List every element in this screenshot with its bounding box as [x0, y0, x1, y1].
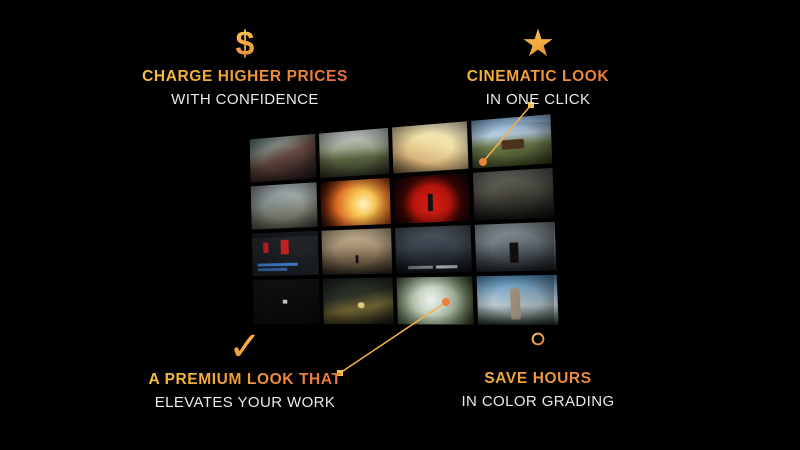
vignette-overlay: [392, 121, 468, 173]
feature-headline: CINEMATIC LOOK: [388, 68, 688, 86]
feature-charge-higher-prices: $ CHARGE HIGHER PRICES WITH CONFIDENCE: [95, 22, 395, 108]
crosshair-target-icon: [388, 324, 688, 368]
caption-text: [436, 265, 457, 269]
feature-subtitle: IN COLOR GRADING: [388, 393, 688, 410]
feature-premium-look: ✓ A PREMIUM LOOK THAT ELEVATES YOUR WORK: [95, 325, 395, 411]
caption-text: [408, 266, 433, 270]
vignette-overlay: [393, 173, 469, 224]
video-thumbnail[interactable]: [395, 225, 472, 274]
feature-subtitle: ELEVATES YOUR WORK: [95, 394, 395, 411]
video-thumbnail[interactable]: [474, 221, 556, 272]
video-thumbnail[interactable]: [393, 173, 469, 224]
video-thumbnail[interactable]: [322, 278, 394, 325]
dollar-sign-icon: $: [95, 22, 395, 66]
video-thumbnail[interactable]: [251, 182, 318, 229]
feature-headline: CHARGE HIGHER PRICES: [95, 68, 395, 86]
promo-slide: $ CHARGE HIGHER PRICES WITH CONFIDENCE ★…: [0, 0, 800, 450]
person-silhouette: [428, 194, 434, 211]
feature-cinematic-look: ★ CINEMATIC LOOK IN ONE CLICK: [388, 22, 688, 108]
vignette-overlay: [322, 278, 394, 325]
feature-subtitle: IN ONE CLICK: [388, 91, 688, 108]
feature-save-hours: SAVE HOURS IN COLOR GRADING: [388, 318, 688, 410]
vignette-overlay: [251, 182, 318, 229]
feature-subtitle: WITH CONFIDENCE: [95, 91, 395, 108]
vignette-overlay: [472, 168, 554, 221]
feature-headline: A PREMIUM LOOK THAT: [95, 371, 395, 389]
video-thumbnail[interactable]: [321, 228, 392, 276]
checkmark-icon: ✓: [95, 325, 395, 369]
feature-headline: SAVE HOURS: [388, 370, 688, 388]
vignette-overlay: [395, 225, 472, 274]
video-thumbnail[interactable]: [320, 178, 391, 227]
editor-clip-marker: [280, 240, 289, 255]
vignette-overlay: [471, 114, 553, 168]
horse-silhouette: [501, 139, 524, 150]
video-thumbnail[interactable]: [252, 230, 319, 276]
video-wall-grid: [250, 114, 559, 325]
video-thumbnail[interactable]: [472, 168, 554, 221]
vignette-overlay: [250, 134, 316, 182]
star-icon: ★: [388, 22, 688, 66]
vignette-overlay: [474, 221, 556, 272]
vignette-overlay: [321, 228, 392, 276]
vignette-overlay: [320, 178, 391, 227]
vignette-overlay: [319, 128, 390, 178]
highlight-speck: [282, 300, 287, 304]
person-silhouette: [510, 289, 522, 320]
editor-clip-marker: [263, 242, 269, 254]
editor-timeline-track: [258, 268, 288, 272]
video-thumbnail[interactable]: [250, 134, 316, 182]
video-wall: [238, 128, 548, 323]
video-thumbnail[interactable]: [392, 121, 468, 173]
editor-panel: [293, 238, 316, 256]
video-thumbnail[interactable]: [471, 114, 553, 168]
video-thumbnail[interactable]: [253, 279, 320, 324]
figure-silhouette: [510, 242, 519, 263]
video-thumbnail[interactable]: [319, 128, 390, 178]
